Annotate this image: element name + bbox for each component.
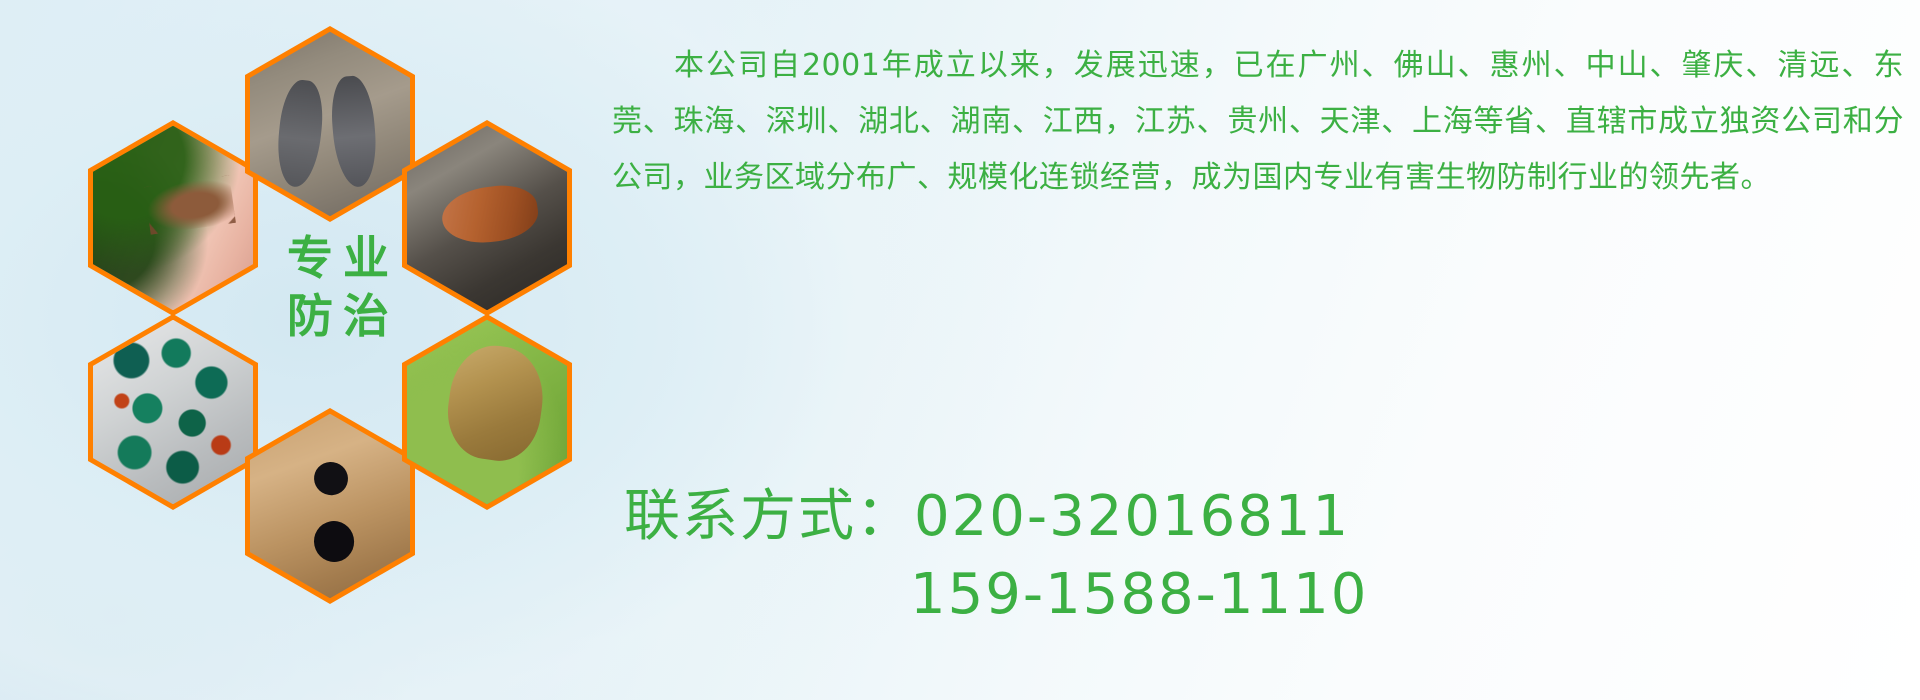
hexagon-photo-cluster: 专业 防治 bbox=[88, 8, 588, 568]
hexagon-image-flies bbox=[93, 320, 253, 505]
company-intro-paragraph: 本公司自2001年成立以来，发展迅速，已在广州、佛山、惠州、中山、肇庆、清远、东… bbox=[612, 38, 1904, 206]
logo-line-1: 专业 bbox=[277, 234, 399, 282]
fly-icon bbox=[93, 320, 253, 505]
contact-phone-landline[interactable]: 联系方式：020-32016811 bbox=[624, 478, 1754, 556]
logo-line-2: 防治 bbox=[277, 292, 399, 340]
cockroach-icon bbox=[407, 126, 567, 311]
promo-banner: 专业 防治 本公司自2001年成立以来，发展迅速，已在广州、佛山、惠州、中山、肇… bbox=[0, 0, 1920, 700]
logo-hexagon: 专业 防治 bbox=[245, 180, 431, 394]
mosquito-icon bbox=[93, 126, 253, 311]
ant-icon bbox=[250, 414, 410, 599]
hexagon-image-mosquito bbox=[93, 126, 253, 311]
contact-phone-mobile[interactable]: 159-1588-1110 bbox=[624, 556, 1754, 634]
contact-block: 联系方式：020-32016811 159-1588-1110 bbox=[624, 478, 1754, 634]
hexagon-image-stinkbug bbox=[407, 320, 567, 505]
hexagon-image-ant bbox=[250, 414, 410, 599]
hexagon-photo-ant[interactable] bbox=[245, 408, 415, 604]
company-intro: 本公司自2001年成立以来，发展迅速，已在广州、佛山、惠州、中山、肇庆、清远、东… bbox=[612, 38, 1904, 206]
stinkbug-icon bbox=[407, 320, 567, 505]
hexagon-photo-flies[interactable] bbox=[88, 314, 258, 510]
hexagon-photo-mosquito[interactable] bbox=[88, 120, 258, 316]
hexagon-image-cockroach bbox=[407, 126, 567, 311]
